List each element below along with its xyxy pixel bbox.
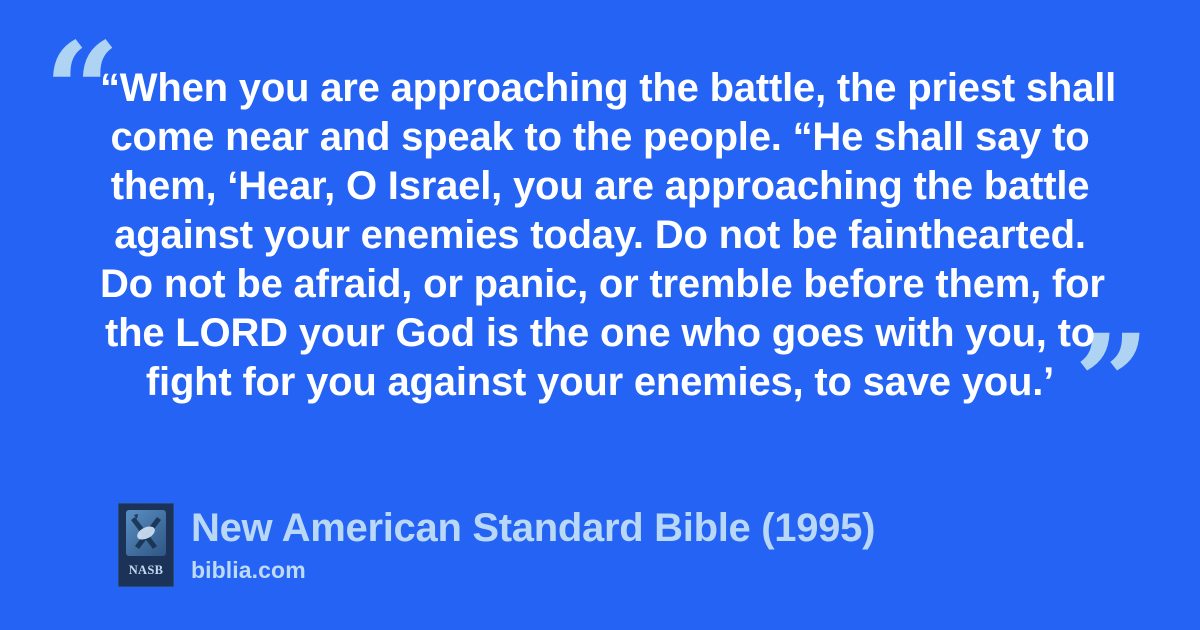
- attribution-text: New American Standard Bible (1995) bibli…: [191, 503, 875, 585]
- quote-line: “When you are approaching the battle, th…: [100, 64, 1100, 113]
- quote-card: “ ” “When you are approaching the battle…: [0, 0, 1200, 630]
- quote-line: Do not be afraid, or panic, or tremble b…: [100, 260, 1100, 309]
- quote-line: the LORD your God is the one who goes wi…: [100, 309, 1100, 358]
- quote-line: them, ‘Hear, O Israel, you are approachi…: [100, 162, 1100, 211]
- quote-line: fight for you against your enemies, to s…: [100, 358, 1100, 407]
- nasb-emblem-icon: [126, 510, 166, 556]
- source-url[interactable]: biblia.com: [191, 555, 875, 585]
- quote-line: against your enemies today. Do not be fa…: [100, 211, 1100, 260]
- quote-line: come near and speak to the people. “He s…: [100, 113, 1100, 162]
- nasb-logo-label: NASB: [129, 563, 164, 578]
- nasb-logo: NASB: [118, 503, 174, 587]
- bible-version-title: New American Standard Bible (1995): [191, 504, 875, 552]
- attribution-block: NASB New American Standard Bible (1995) …: [118, 503, 875, 587]
- quote-text-block: “When you are approaching the battle, th…: [100, 64, 1100, 407]
